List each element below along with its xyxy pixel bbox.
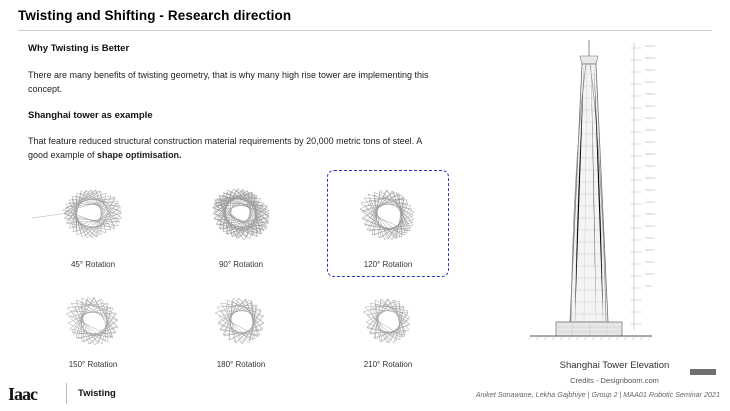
footer-credit: Aniket Sonawane, Lekha Gajbhiye | Group …	[476, 390, 720, 399]
figure-90-rotation	[178, 175, 304, 255]
svg-text:546.00 m: 546.00 m	[645, 68, 656, 72]
twist-diagram-150-icon	[30, 283, 156, 363]
shanghai-text-part1: That feature reduced structural construc…	[28, 136, 412, 146]
svg-text:0.00 m: 0.00 m	[645, 284, 653, 288]
figure-180-rotation	[178, 283, 304, 363]
section-paragraph-shanghai: That feature reduced structural construc…	[28, 134, 438, 162]
figure-caption-90: 90° Rotation	[178, 260, 304, 269]
svg-text:632.00 m: 632.00 m	[645, 44, 656, 48]
footer-section-label: Twisting	[78, 388, 116, 399]
figure-caption-150: 150° Rotation	[30, 360, 156, 369]
twist-diagram-210-icon	[325, 283, 451, 363]
figure-45-rotation	[30, 175, 156, 255]
figure-210-rotation	[325, 283, 451, 363]
svg-text:240.00 m: 240.00 m	[645, 176, 656, 180]
svg-text:138.00 m: 138.00 m	[645, 212, 656, 216]
figure-caption-45: 45° Rotation	[30, 260, 156, 269]
figure-120-rotation	[325, 175, 451, 255]
section-heading-shanghai: Shanghai tower as example	[28, 110, 153, 121]
svg-text:444.00 m: 444.00 m	[645, 104, 656, 108]
tower-elevation-icon: 632.00 m 580.00 m 546.00 m 512.00 m 478.…	[512, 34, 717, 354]
logo-divider	[66, 383, 67, 404]
svg-text:376.00 m: 376.00 m	[645, 128, 656, 132]
shanghai-text-bold: shape optimisation.	[97, 150, 182, 160]
svg-text:274.00 m: 274.00 m	[645, 164, 656, 168]
figure-caption-120: 120° Rotation	[325, 260, 451, 269]
svg-text:308.00 m: 308.00 m	[645, 152, 656, 156]
slide-root: Twisting and Shifting - Research directi…	[0, 0, 730, 411]
svg-text:36.00 m: 36.00 m	[645, 248, 654, 252]
svg-text:512.00 m: 512.00 m	[645, 80, 656, 84]
svg-text:70.00 m: 70.00 m	[645, 236, 654, 240]
tower-credit: Credits - Designboom.com	[512, 376, 717, 385]
figure-caption-180: 180° Rotation	[178, 360, 304, 369]
tower-caption: Shanghai Tower Elevation	[512, 360, 717, 371]
svg-text:22.00 m: 22.00 m	[645, 260, 654, 264]
svg-text:410.00 m: 410.00 m	[645, 116, 656, 120]
svg-text:342.00 m: 342.00 m	[645, 140, 656, 144]
figure-150-rotation	[30, 283, 156, 363]
twist-diagram-120-icon	[325, 175, 451, 255]
svg-text:104.00 m: 104.00 m	[645, 224, 656, 228]
figure-caption-210: 210° Rotation	[325, 360, 451, 369]
svg-text:172.00 m: 172.00 m	[645, 200, 656, 204]
iaac-logo: Iaac	[8, 384, 37, 405]
twist-diagram-180-icon	[178, 283, 304, 363]
svg-text:206.00 m: 206.00 m	[645, 188, 656, 192]
twist-diagram-45-icon	[30, 175, 156, 255]
footer-accent-bar	[690, 369, 716, 375]
svg-text:478.00 m: 478.00 m	[645, 92, 656, 96]
shanghai-tower-elevation-drawing: 632.00 m 580.00 m 546.00 m 512.00 m 478.…	[512, 34, 717, 354]
title-divider	[18, 30, 712, 31]
svg-text:10.00 m: 10.00 m	[645, 272, 654, 276]
page-title: Twisting and Shifting - Research directi…	[18, 8, 291, 23]
svg-text:580.00 m: 580.00 m	[645, 56, 656, 60]
twist-diagram-90-icon	[178, 175, 304, 255]
section-paragraph-why-twisting: There are many benefits of twisting geom…	[28, 68, 438, 96]
section-heading-why-twisting: Why Twisting is Better	[28, 43, 129, 54]
